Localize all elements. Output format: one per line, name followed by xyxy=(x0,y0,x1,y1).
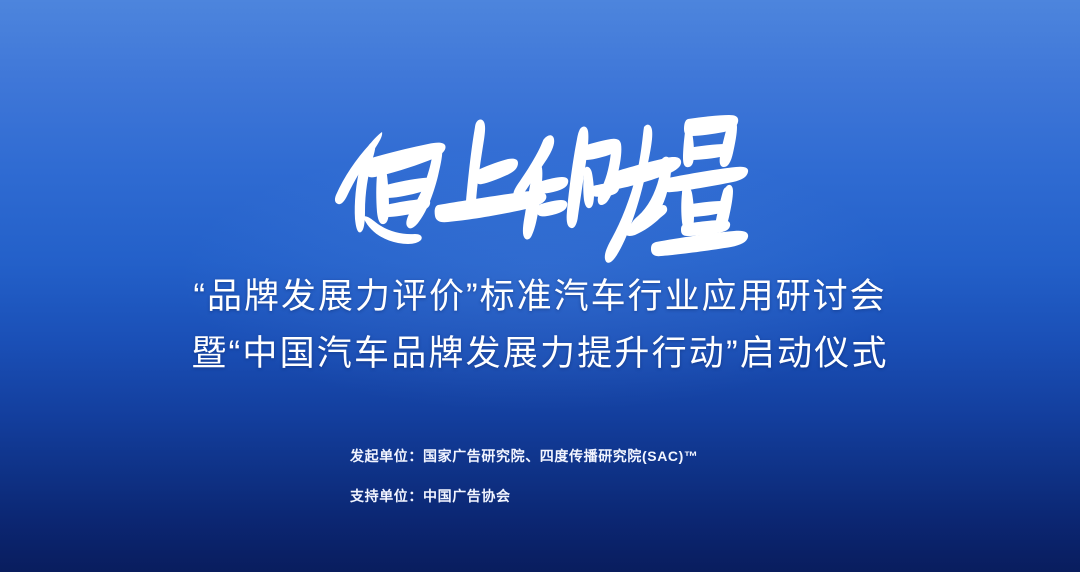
glyph-xiang xyxy=(335,132,446,244)
brush-strokes-svg xyxy=(330,101,750,261)
subtitle-block: “品牌发展力评价”标准汽车行业应用研讨会 暨“中国汽车品牌发展力提升行动”启动仪… xyxy=(0,268,1080,382)
subtitle-line-2: 暨“中国汽车品牌发展力提升行动”启动仪式 xyxy=(0,325,1080,382)
glyph-de xyxy=(513,127,621,240)
credit-organizer: 发起单位：国家广告研究院、四度传播研究院(SAC)™ xyxy=(350,448,698,464)
event-poster: “品牌发展力评价”标准汽车行业应用研讨会 暨“中国汽车品牌发展力提升行动”启动仪… xyxy=(0,0,1080,572)
subtitle-line-1: “品牌发展力评价”标准汽车行业应用研讨会 xyxy=(0,268,1080,325)
credits-block: 发起单位：国家广告研究院、四度传播研究院(SAC)™ 支持单位：中国广告协会 xyxy=(350,448,698,504)
headline-calligraphy xyxy=(0,96,1080,266)
credit-supporter: 支持单位：中国广告协会 xyxy=(350,488,698,504)
glyph-group xyxy=(335,115,748,263)
glyph-liang xyxy=(651,115,748,256)
